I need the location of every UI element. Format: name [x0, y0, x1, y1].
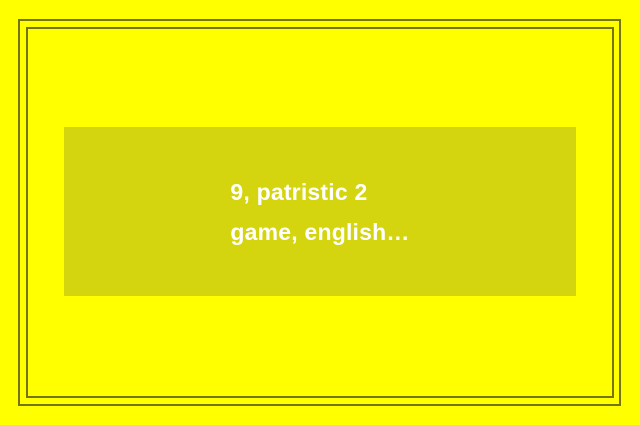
banner-text-line-1: 9, patristic 2 [230, 179, 367, 205]
banner-canvas: 9, patristic 2 game, english… [0, 0, 640, 425]
banner-text-lines: 9, patristic 2 game, english… [230, 172, 409, 252]
banner-text-line-2: game, english… [230, 219, 409, 245]
banner-text-block: 9, patristic 2 game, english… [64, 172, 576, 252]
content-band: 9, patristic 2 game, english… [64, 127, 576, 296]
